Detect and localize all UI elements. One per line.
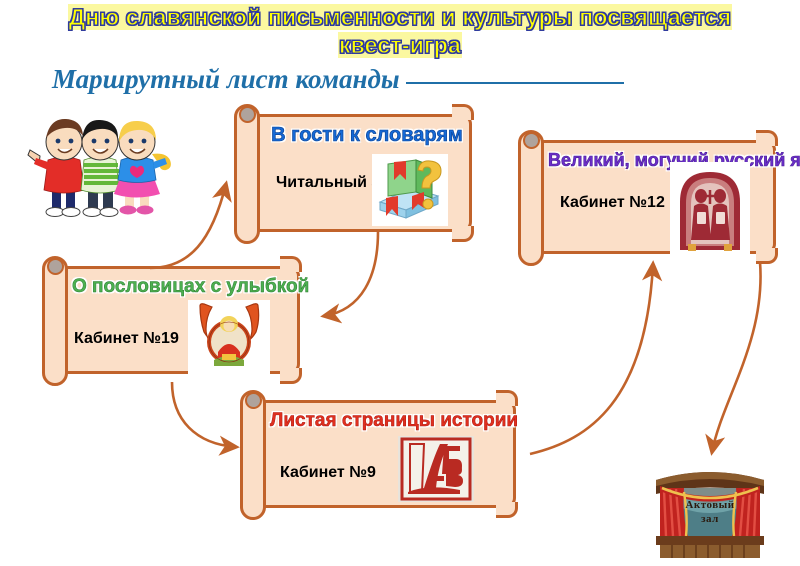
child-girl [114,121,171,215]
scroll-roll-knob-icon [523,132,540,149]
child-red [28,119,84,217]
scroll-roll-knob-icon [245,392,262,409]
station-room-istoriya: Кабинет №9 [280,464,376,482]
scroll-corner-bottom [756,248,778,264]
arrow-russkiy-to-hall [712,262,761,452]
scroll-corner-top [756,130,778,146]
scroll-corner-top [496,390,518,406]
station-heading-istoriya: Листая страницы истории [270,410,514,432]
poster-title-block: Дню славянской письменности и культуры п… [0,4,800,58]
scroll-corner-bottom [280,368,302,384]
station-card-slovari[interactable]: В гости к словарям Читальный зал [228,104,486,244]
arrow-slovari-to-poslovicy [324,232,378,316]
station-heading-poslovicy: О пословицах с улыбкой [72,276,298,298]
page-title-line1: Дню славянской письменности и культуры п… [0,4,800,30]
page-title-line1-text: Дню славянской письменности и культуры п… [68,4,733,30]
assembly-hall-stage[interactable]: Актовый зал [650,458,770,560]
team-name-blank-line[interactable] [406,82,624,84]
scroll-corner-bottom [496,502,518,518]
scroll-roll [240,390,266,520]
station-card-istoriya[interactable]: Листая страницы истории Кабинет №9 [234,390,530,520]
scroll-roll [234,104,260,244]
page-title-line2: квест-игра [0,32,800,58]
arrow-poslovicy-to-istoriya [172,382,236,447]
azbuka-letters-icon [398,436,474,502]
station-card-poslovicy[interactable]: О пословицах с улыбкой Кабинет №19 [36,256,314,386]
scroll-corner-top [452,104,474,120]
book-question-icon [372,154,448,226]
subtitle-team-route: Маршрутный лист команды [52,64,624,95]
three-children-illustration [22,104,182,224]
scroll-corner-top [280,256,302,272]
arrow-istoriya-to-russkiy [530,264,653,454]
assembly-hall-label-line1: Актовый [650,498,770,512]
child-green [81,120,119,217]
station-heading-slovari: В гости к словарям [264,124,470,147]
cyril-methodius-icon [670,162,750,254]
station-room-poslovicy: Кабинет №19 [74,330,179,348]
station-card-russkiy[interactable]: Великий, могучий русский язык Кабинет №1… [512,130,790,266]
assembly-hall-label-line2: зал [650,512,770,526]
assembly-hall-label: Актовый зал [650,498,770,526]
scroll-roll-knob-icon [239,106,256,123]
page-title-line2-text: квест-игра [338,32,462,58]
route-sheet-poster: Дню славянской письменности и культуры п… [0,0,800,566]
scroll-roll [518,130,544,266]
subtitle-text: Маршрутный лист команды [52,64,400,94]
scroll-roll-knob-icon [47,258,64,275]
horseshoe-emblem-icon [188,300,270,374]
scroll-roll [42,256,68,386]
scroll-corner-bottom [452,226,474,242]
station-room-russkiy: Кабинет №12 [560,194,665,212]
